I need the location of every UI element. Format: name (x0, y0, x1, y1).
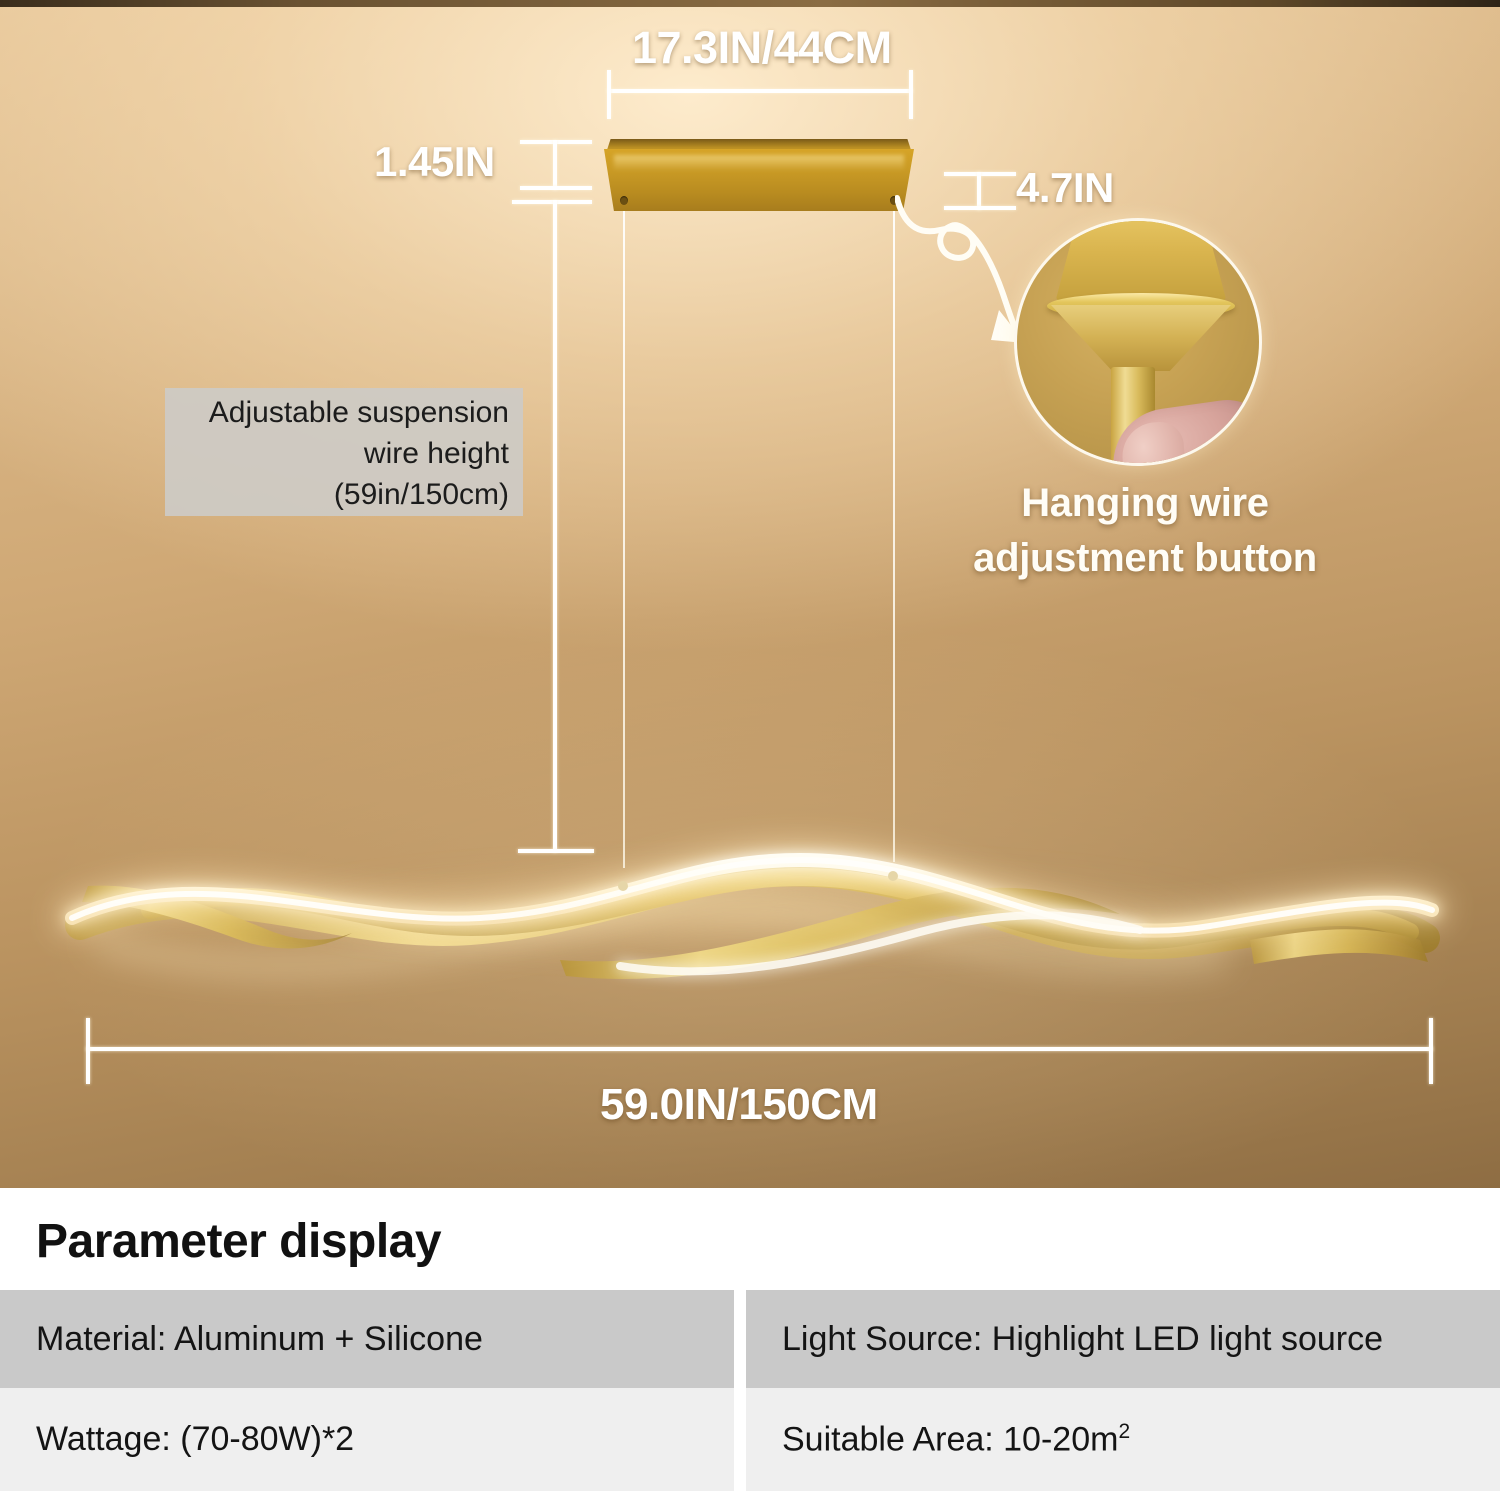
inset-thumbnail (1120, 420, 1187, 466)
dim-top-width-label: 17.3IN/44CM (632, 22, 892, 74)
dim-canopy-vertical (553, 140, 557, 190)
dim-canopy-baseline (512, 200, 592, 204)
table-cell-wattage-text: Wattage: (70-80W)*2 (36, 1420, 354, 1459)
adjustment-button-inset-photo (1014, 218, 1262, 466)
dim-suspension-height-end-tick (518, 849, 594, 853)
canopy-wire-hole-left (620, 196, 628, 205)
table-cell-suitable-area: Suitable Area: 10-20m2 (746, 1388, 1500, 1491)
parameter-display-section: Parameter display Material: Aluminum + S… (0, 1188, 1500, 1491)
top-edge-strip (0, 0, 1500, 7)
product-infographic: 17.3IN/44CM 1.45IN 4.7IN Adjustable susp… (0, 0, 1500, 1491)
table-column-gap-row1 (734, 1290, 746, 1388)
table-cell-material: Material: Aluminum + Silicone (0, 1290, 734, 1388)
parameter-display-title: Parameter display (36, 1214, 441, 1269)
dim-overall-width-label: 59.0IN/150CM (600, 1080, 878, 1130)
suitable-area-superscript: 2 (1118, 1420, 1130, 1443)
dim-overall-width-line (86, 1047, 1433, 1051)
parameter-table: Material: Aluminum + Silicone Light Sour… (0, 1290, 1500, 1491)
table-cell-light-source-text: Light Source: Highlight LED light source (782, 1320, 1383, 1359)
inset-cap-cone (1051, 305, 1231, 371)
dim-suspension-height-line (553, 200, 557, 852)
dim-top-width-line (607, 89, 913, 93)
ceiling-canopy (604, 133, 914, 211)
dim-canopy-height-label: 1.45IN (374, 138, 495, 186)
suspension-wire-left (623, 202, 625, 868)
callout-line-1: Adjustable suspension (181, 392, 509, 433)
table-column-gap-row2 (734, 1388, 746, 1491)
inset-caption-line-1: Hanging wire (905, 476, 1385, 531)
led-pendant-fixture (0, 790, 1500, 1040)
table-cell-suitable-area-text: Suitable Area: 10-20m2 (782, 1420, 1130, 1459)
dim-overall-width-tick-left (86, 1018, 90, 1084)
table-cell-light-source: Light Source: Highlight LED light source (746, 1290, 1500, 1388)
inset-cap-top (1055, 218, 1227, 303)
adjustable-height-callout: Adjustable suspension wire height (59in/… (165, 388, 523, 516)
table-cell-material-text: Material: Aluminum + Silicone (36, 1320, 483, 1359)
suitable-area-value: Suitable Area: 10-20m (782, 1420, 1118, 1458)
canopy-highlight (614, 155, 904, 171)
dim-top-width-tick-right (909, 70, 913, 119)
dim-top-width-tick-left (607, 70, 611, 119)
table-cell-wattage: Wattage: (70-80W)*2 (0, 1388, 734, 1491)
product-photo-area: 17.3IN/44CM 1.45IN 4.7IN Adjustable susp… (0, 0, 1500, 1188)
callout-line-3: (59in/150cm) (181, 474, 509, 515)
dim-canopy-bottom-tick (520, 186, 592, 190)
inset-caption: Hanging wire adjustment button (905, 476, 1385, 586)
callout-line-2: wire height (181, 433, 509, 474)
dim-overall-width-tick-right (1429, 1018, 1433, 1084)
inset-caption-line-2: adjustment button (905, 531, 1385, 586)
